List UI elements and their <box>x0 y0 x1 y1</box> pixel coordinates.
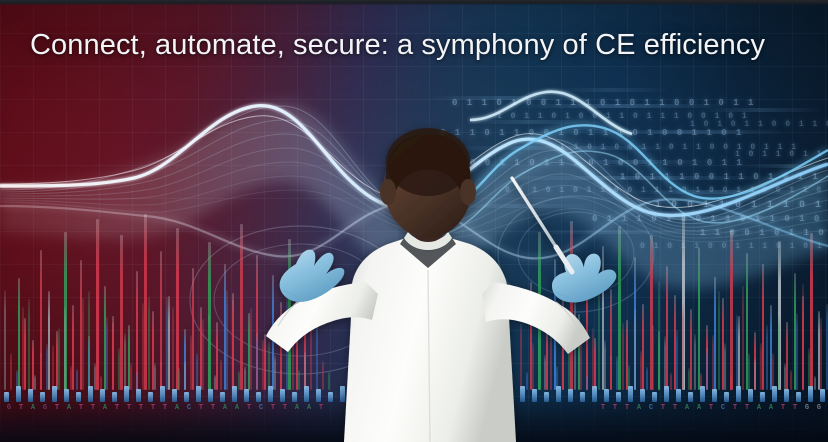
trace-peak-minor <box>634 309 636 390</box>
trace-peak <box>586 269 588 390</box>
trace-peak-minor <box>226 290 228 390</box>
trace-peak <box>738 316 740 390</box>
trace-peak-minor <box>58 328 60 390</box>
trace-peak-minor <box>322 361 324 390</box>
trace-peak-minor <box>154 363 156 390</box>
trace-peak-minor <box>214 375 216 390</box>
trace-peak-minor <box>772 353 774 390</box>
trace-peak <box>176 228 179 390</box>
trace-peak-minor <box>808 348 810 390</box>
trace-peak-minor <box>238 371 240 390</box>
trace-peak-minor <box>562 347 564 390</box>
trace-peak-minor <box>64 307 66 390</box>
trace-peak <box>714 277 716 390</box>
trace-peak-minor <box>298 370 300 390</box>
trace-peak-minor <box>46 344 48 390</box>
page-title: Connect, automate, secure: a symphony of… <box>30 28 765 62</box>
trace-peak-minor <box>202 319 204 390</box>
trace-peak-minor <box>286 296 288 390</box>
trace-peak-minor <box>106 317 108 390</box>
trace-peak <box>48 291 50 390</box>
trace-peak-minor <box>730 375 732 390</box>
trace-peak-minor <box>130 363 132 390</box>
trace-peak-minor <box>616 356 618 390</box>
trace-peak-minor <box>622 323 624 390</box>
trace-peak-minor <box>136 372 138 390</box>
trace-peak <box>288 239 291 390</box>
trace-peak <box>216 322 218 390</box>
trace-peak <box>698 248 700 390</box>
trace-peak <box>690 309 692 390</box>
trace-peak-minor <box>748 353 750 390</box>
trace-peak-minor <box>688 368 690 390</box>
trace-peak-minor <box>766 325 768 390</box>
trace-peak-minor <box>304 352 306 390</box>
trace-peak <box>642 304 644 390</box>
trace-peak <box>96 219 99 390</box>
trace-peak-minor <box>706 348 708 390</box>
trace-peak-minor <box>88 291 90 390</box>
trace-peak-minor <box>208 315 210 390</box>
trace-peak-minor <box>316 317 318 390</box>
trace-peak-minor <box>310 290 312 390</box>
trace-peak <box>72 305 74 390</box>
trace-peak-minor <box>682 300 684 390</box>
trace-peak-minor <box>166 297 168 390</box>
trace-peak-minor <box>640 351 642 390</box>
trace-peak-minor <box>328 372 330 390</box>
electropherogram-peaks <box>0 210 828 390</box>
trace-peak-minor <box>604 340 606 390</box>
trace-peak-minor <box>784 363 786 390</box>
trace-peak-minor <box>22 307 24 390</box>
trace-peak-minor <box>778 312 780 390</box>
trace-peak-minor <box>592 328 594 390</box>
trace-peak-minor <box>100 376 102 390</box>
trace-peak-minor <box>190 335 192 390</box>
trace-peak-minor <box>610 356 612 390</box>
trace-peak-minor <box>694 334 696 390</box>
trace-peak-minor <box>172 307 174 390</box>
trace-peak-minor <box>742 286 744 390</box>
trace-peak-minor <box>550 333 552 390</box>
trace-peak <box>144 214 147 390</box>
trace-peak <box>24 318 26 390</box>
trace-peak-minor <box>274 355 276 390</box>
trace-peak-minor <box>76 369 78 390</box>
trace-peak-minor <box>262 340 264 390</box>
trace-peak-minor <box>790 370 792 390</box>
trace-peak-minor <box>256 333 258 390</box>
trace-peak-minor <box>10 353 12 390</box>
trace-peak-minor <box>646 367 648 390</box>
trace-peak-minor <box>52 345 54 390</box>
trace-peak <box>264 334 266 390</box>
trace-peak-minor <box>580 331 582 390</box>
trace-peak-minor <box>82 298 84 390</box>
trace-peak-minor <box>292 307 294 390</box>
trace-peak <box>730 230 733 390</box>
trace-peak-minor <box>250 308 252 390</box>
trace-peak-minor <box>802 284 804 390</box>
trace-peak-minor <box>184 361 186 390</box>
trace-peak <box>666 266 668 390</box>
trace-peak-minor <box>280 370 282 390</box>
trace-peak-minor <box>520 323 522 390</box>
trace-peak-minor <box>196 353 198 390</box>
trace-peak <box>18 278 20 390</box>
trace-peak-minor <box>718 291 720 390</box>
trace-peak <box>786 322 788 390</box>
trace-peak <box>240 224 243 390</box>
trace-peak <box>594 338 596 390</box>
trace-peak <box>546 327 548 390</box>
trace-peak-minor <box>178 368 180 390</box>
trace-peak-minor <box>796 313 798 390</box>
trace-peak <box>762 264 764 390</box>
trace-peak-minor <box>232 300 234 390</box>
trace-peak-minor <box>28 299 30 390</box>
trace-peak-minor <box>118 348 120 390</box>
trace-peak-minor <box>736 315 738 390</box>
trace-peak-minor <box>70 366 72 390</box>
trace-peak <box>168 296 170 390</box>
trace-peak-minor <box>34 375 36 390</box>
bottom-shade <box>0 394 828 442</box>
trace-peak-minor <box>142 303 144 390</box>
trace-peak-minor <box>124 333 126 390</box>
trace-peak-minor <box>598 284 600 390</box>
trace-peak-minor <box>712 335 714 390</box>
trace-peak <box>192 268 194 390</box>
trace-peak-minor <box>244 366 246 390</box>
trace-peak <box>618 226 621 390</box>
trace-peak <box>570 221 573 390</box>
trace-peak-minor <box>652 325 654 390</box>
trace-peak-minor <box>760 343 762 390</box>
trace-peak-minor <box>820 318 822 390</box>
trace-peak-minor <box>724 343 726 390</box>
trace-peak-minor <box>670 373 672 390</box>
trace-peak-minor <box>40 353 42 390</box>
trace-peak-minor <box>268 342 270 390</box>
trace-peak <box>810 233 813 390</box>
trace-peak-minor <box>664 336 666 390</box>
trace-peak-minor <box>532 343 534 390</box>
trace-peak-minor <box>568 347 570 390</box>
trace-peak-minor <box>94 363 96 390</box>
trace-peak-minor <box>574 289 576 390</box>
trace-peak-minor <box>112 323 114 390</box>
trace-peak-minor <box>676 330 678 390</box>
trace-peak-minor <box>826 304 828 390</box>
trace-peak-minor <box>220 360 222 390</box>
trace-peak-minor <box>148 297 150 390</box>
trace-peak-minor <box>814 376 816 390</box>
wave-right-highlight <box>470 92 632 134</box>
marketing-banner: 0 1 1 0 1 0 0 1 1 1 0 1 0 1 1 0 0 1 0 1 … <box>0 0 828 442</box>
trace-peak-minor <box>544 355 546 390</box>
top-edge-strip <box>0 0 828 5</box>
trace-peak-minor <box>526 372 528 390</box>
trace-peak-minor <box>658 281 660 390</box>
trace-peak <box>120 235 123 390</box>
trace-peak-minor <box>754 359 756 390</box>
trace-peak-minor <box>538 300 540 390</box>
trace-peak-minor <box>4 290 6 390</box>
trace-peak-minor <box>586 376 588 390</box>
